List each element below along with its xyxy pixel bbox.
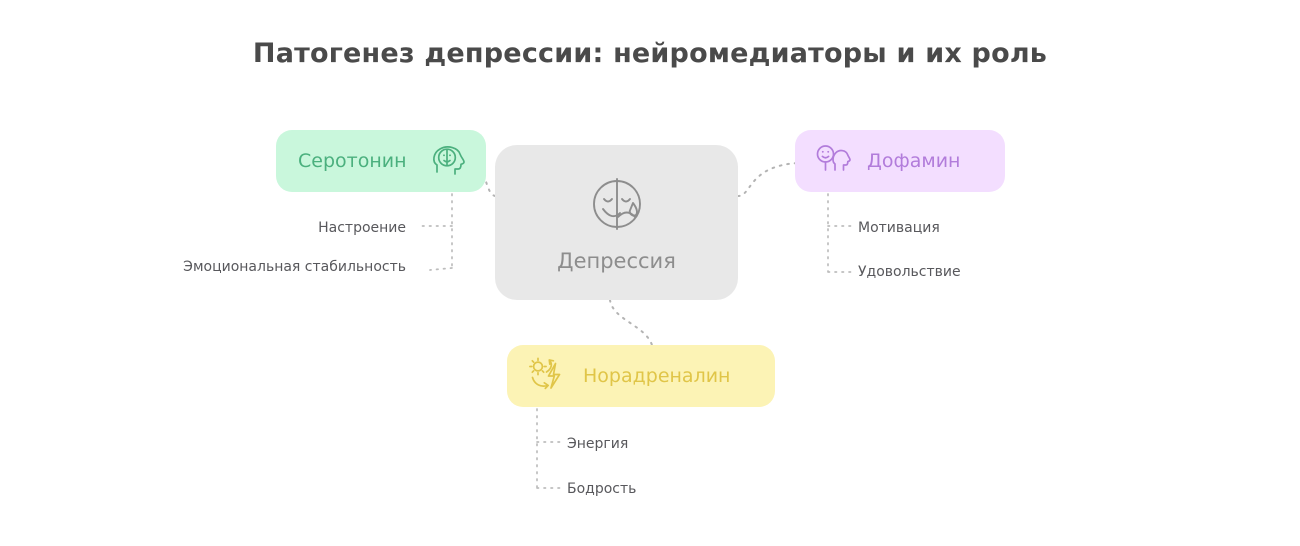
head-with-face-icon: [428, 141, 468, 181]
leaf-label-emotional-stability: Эмоциональная стабильность: [183, 259, 406, 275]
connector-center-noradrenaline: [610, 300, 652, 345]
connector-dopamine-leaves: [828, 194, 852, 272]
node-noradrenaline[interactable]: Норадреналин: [507, 345, 775, 407]
leaf-label-energy: Энергия: [567, 436, 628, 452]
node-dopamine[interactable]: Дофамин: [795, 130, 1005, 192]
node-center-depression[interactable]: Депрессия: [495, 145, 738, 300]
connector-serotonin-leaves: [422, 194, 452, 270]
leaf-label-vigor: Бодрость: [567, 481, 636, 497]
node-serotonin-label: Серотонин: [298, 150, 407, 172]
node-noradrenaline-label: Норадреналин: [583, 365, 730, 387]
page-title: Патогенез депрессии: нейромедиаторы и их…: [0, 38, 1300, 69]
node-dopamine-label: Дофамин: [867, 150, 960, 172]
half-happy-half-sad-face-icon: [586, 173, 648, 235]
connector-noradrenaline-leaves: [537, 409, 561, 488]
sun-lightning-bolt-icon: [525, 354, 569, 398]
leaf-label-mood: Настроение: [318, 220, 406, 236]
head-with-smiley-icon: [813, 140, 855, 182]
leaf-label-pleasure: Удовольствие: [858, 264, 961, 280]
connector-center-dopamine: [738, 163, 798, 196]
mindmap-canvas: Патогенез депрессии: нейромедиаторы и их…: [0, 0, 1300, 546]
node-center-label: Депрессия: [557, 249, 676, 273]
node-serotonin[interactable]: Серотонин: [276, 130, 486, 192]
leaf-label-motivation: Мотивация: [858, 220, 940, 236]
